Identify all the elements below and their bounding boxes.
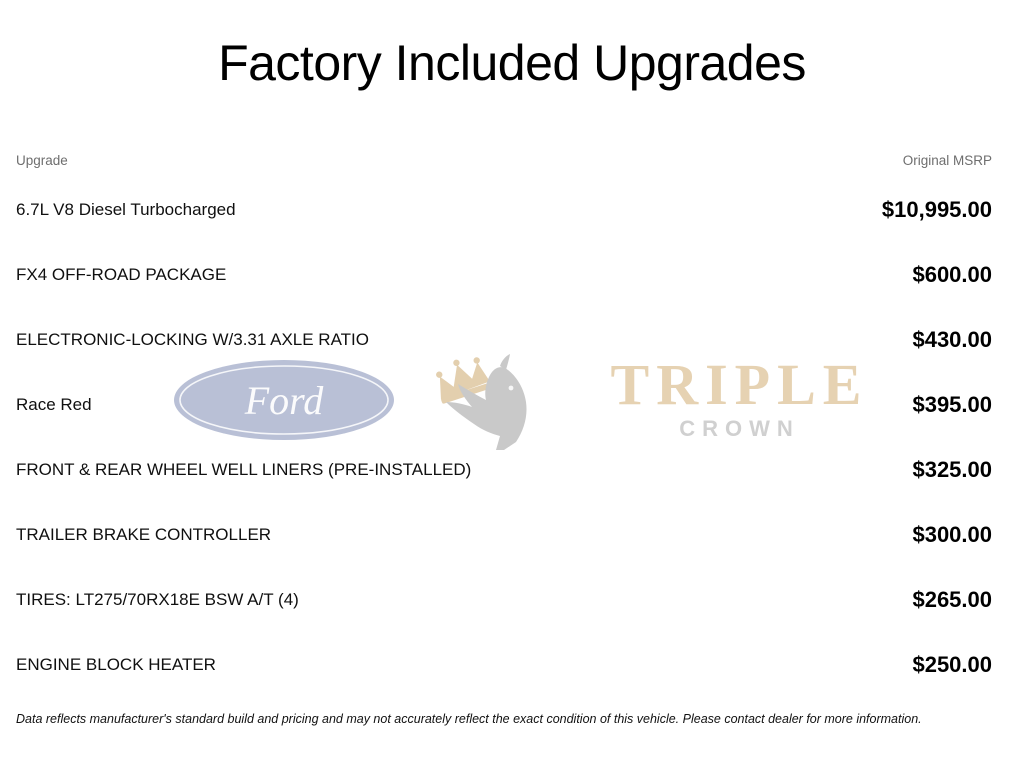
upgrade-name: FX4 OFF-ROAD PACKAGE <box>16 243 716 308</box>
table-header: Upgrade Original MSRP <box>16 152 992 178</box>
table-header-row: Upgrade Original MSRP <box>16 152 992 178</box>
upgrade-price: $250.00 <box>716 633 992 698</box>
table-row: ENGINE BLOCK HEATER $250.00 <box>16 633 992 698</box>
upgrade-name: ELECTRONIC-LOCKING W/3.31 AXLE RATIO <box>16 308 716 373</box>
upgrade-name: 6.7L V8 Diesel Turbocharged <box>16 178 716 243</box>
column-header-upgrade: Upgrade <box>16 152 716 178</box>
table-row: FX4 OFF-ROAD PACKAGE $600.00 <box>16 243 992 308</box>
upgrade-price: $395.00 <box>716 373 992 438</box>
upgrade-name: TRAILER BRAKE CONTROLLER <box>16 503 716 568</box>
page-title: Factory Included Upgrades <box>0 36 1024 91</box>
table-row: ELECTRONIC-LOCKING W/3.31 AXLE RATIO $43… <box>16 308 992 373</box>
upgrade-price: $265.00 <box>716 568 992 633</box>
table-row: FRONT & REAR WHEEL WELL LINERS (PRE-INST… <box>16 438 992 503</box>
table-row: Race Red $395.00 <box>16 373 992 438</box>
upgrade-price: $600.00 <box>716 243 992 308</box>
upgrade-name: TIRES: LT275/70RX18E BSW A/T (4) <box>16 568 716 633</box>
upgrade-price: $430.00 <box>716 308 992 373</box>
upgrade-name: FRONT & REAR WHEEL WELL LINERS (PRE-INST… <box>16 438 716 503</box>
table-row: 6.7L V8 Diesel Turbocharged $10,995.00 <box>16 178 992 243</box>
upgrade-price: $325.00 <box>716 438 992 503</box>
upgrade-price: $10,995.00 <box>716 178 992 243</box>
upgrade-name: Race Red <box>16 373 716 438</box>
column-header-original-msrp: Original MSRP <box>716 152 992 178</box>
table-body: 6.7L V8 Diesel Turbocharged $10,995.00 F… <box>16 178 992 698</box>
table-row: TRAILER BRAKE CONTROLLER $300.00 <box>16 503 992 568</box>
factory-upgrades-page: Factory Included Upgrades Ford <box>0 0 1024 768</box>
upgrades-table: Upgrade Original MSRP 6.7L V8 Diesel Tur… <box>16 152 992 698</box>
table-row: TIRES: LT275/70RX18E BSW A/T (4) $265.00 <box>16 568 992 633</box>
upgrade-price: $300.00 <box>716 503 992 568</box>
disclaimer-text: Data reflects manufacturer's standard bu… <box>16 711 992 727</box>
upgrade-name: ENGINE BLOCK HEATER <box>16 633 716 698</box>
